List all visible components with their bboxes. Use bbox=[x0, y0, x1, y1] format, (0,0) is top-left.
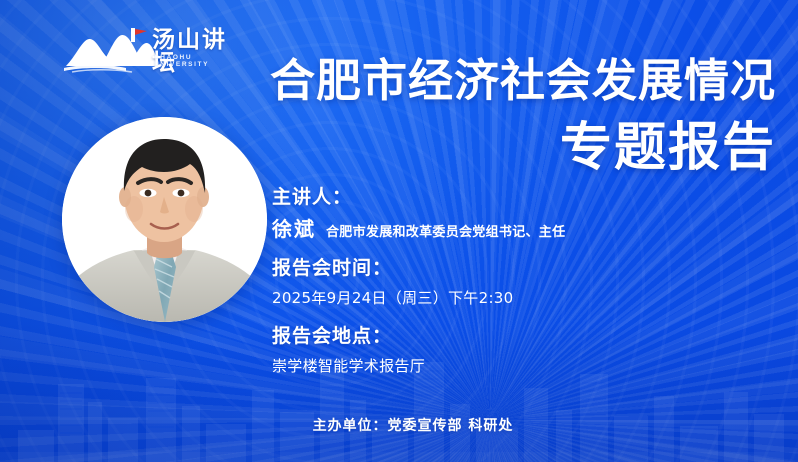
speaker-name: 徐斌 bbox=[272, 219, 316, 239]
mountain-logo-icon bbox=[62, 26, 160, 74]
time-label: 报告会时间： bbox=[272, 259, 692, 278]
spacer-2 bbox=[272, 307, 692, 327]
seminar-poster: 汤山讲坛 CHAOHU UNIVERSITY bbox=[0, 0, 798, 462]
speaker-label: 主讲人： bbox=[272, 188, 692, 207]
speaker-row: 徐斌 合肥市发展和改革委员会党组书记、主任 bbox=[272, 219, 692, 239]
place-label: 报告会地点： bbox=[272, 327, 692, 346]
time-value: 2025年9月24日（周三）下午2:30 bbox=[272, 289, 692, 307]
brand-logo: 汤山讲坛 CHAOHU UNIVERSITY bbox=[62, 22, 242, 78]
title-line-1: 合肥市经济社会发展情况 bbox=[216, 57, 776, 106]
poster-title: 合肥市经济社会发展情况 专题报告 bbox=[216, 57, 776, 176]
event-info: 主讲人： 徐斌 合肥市发展和改革委员会党组书记、主任 报告会时间： 2025年9… bbox=[272, 188, 692, 375]
title-line-2: 专题报告 bbox=[216, 120, 776, 176]
organizer-line: 主办单位：党委宣传部 科研处 bbox=[0, 415, 798, 435]
place-value: 崇学楼智能学术报告厅 bbox=[272, 357, 692, 375]
speaker-title: 合肥市发展和改革委员会党组书记、主任 bbox=[326, 226, 565, 239]
spacer bbox=[272, 239, 692, 259]
